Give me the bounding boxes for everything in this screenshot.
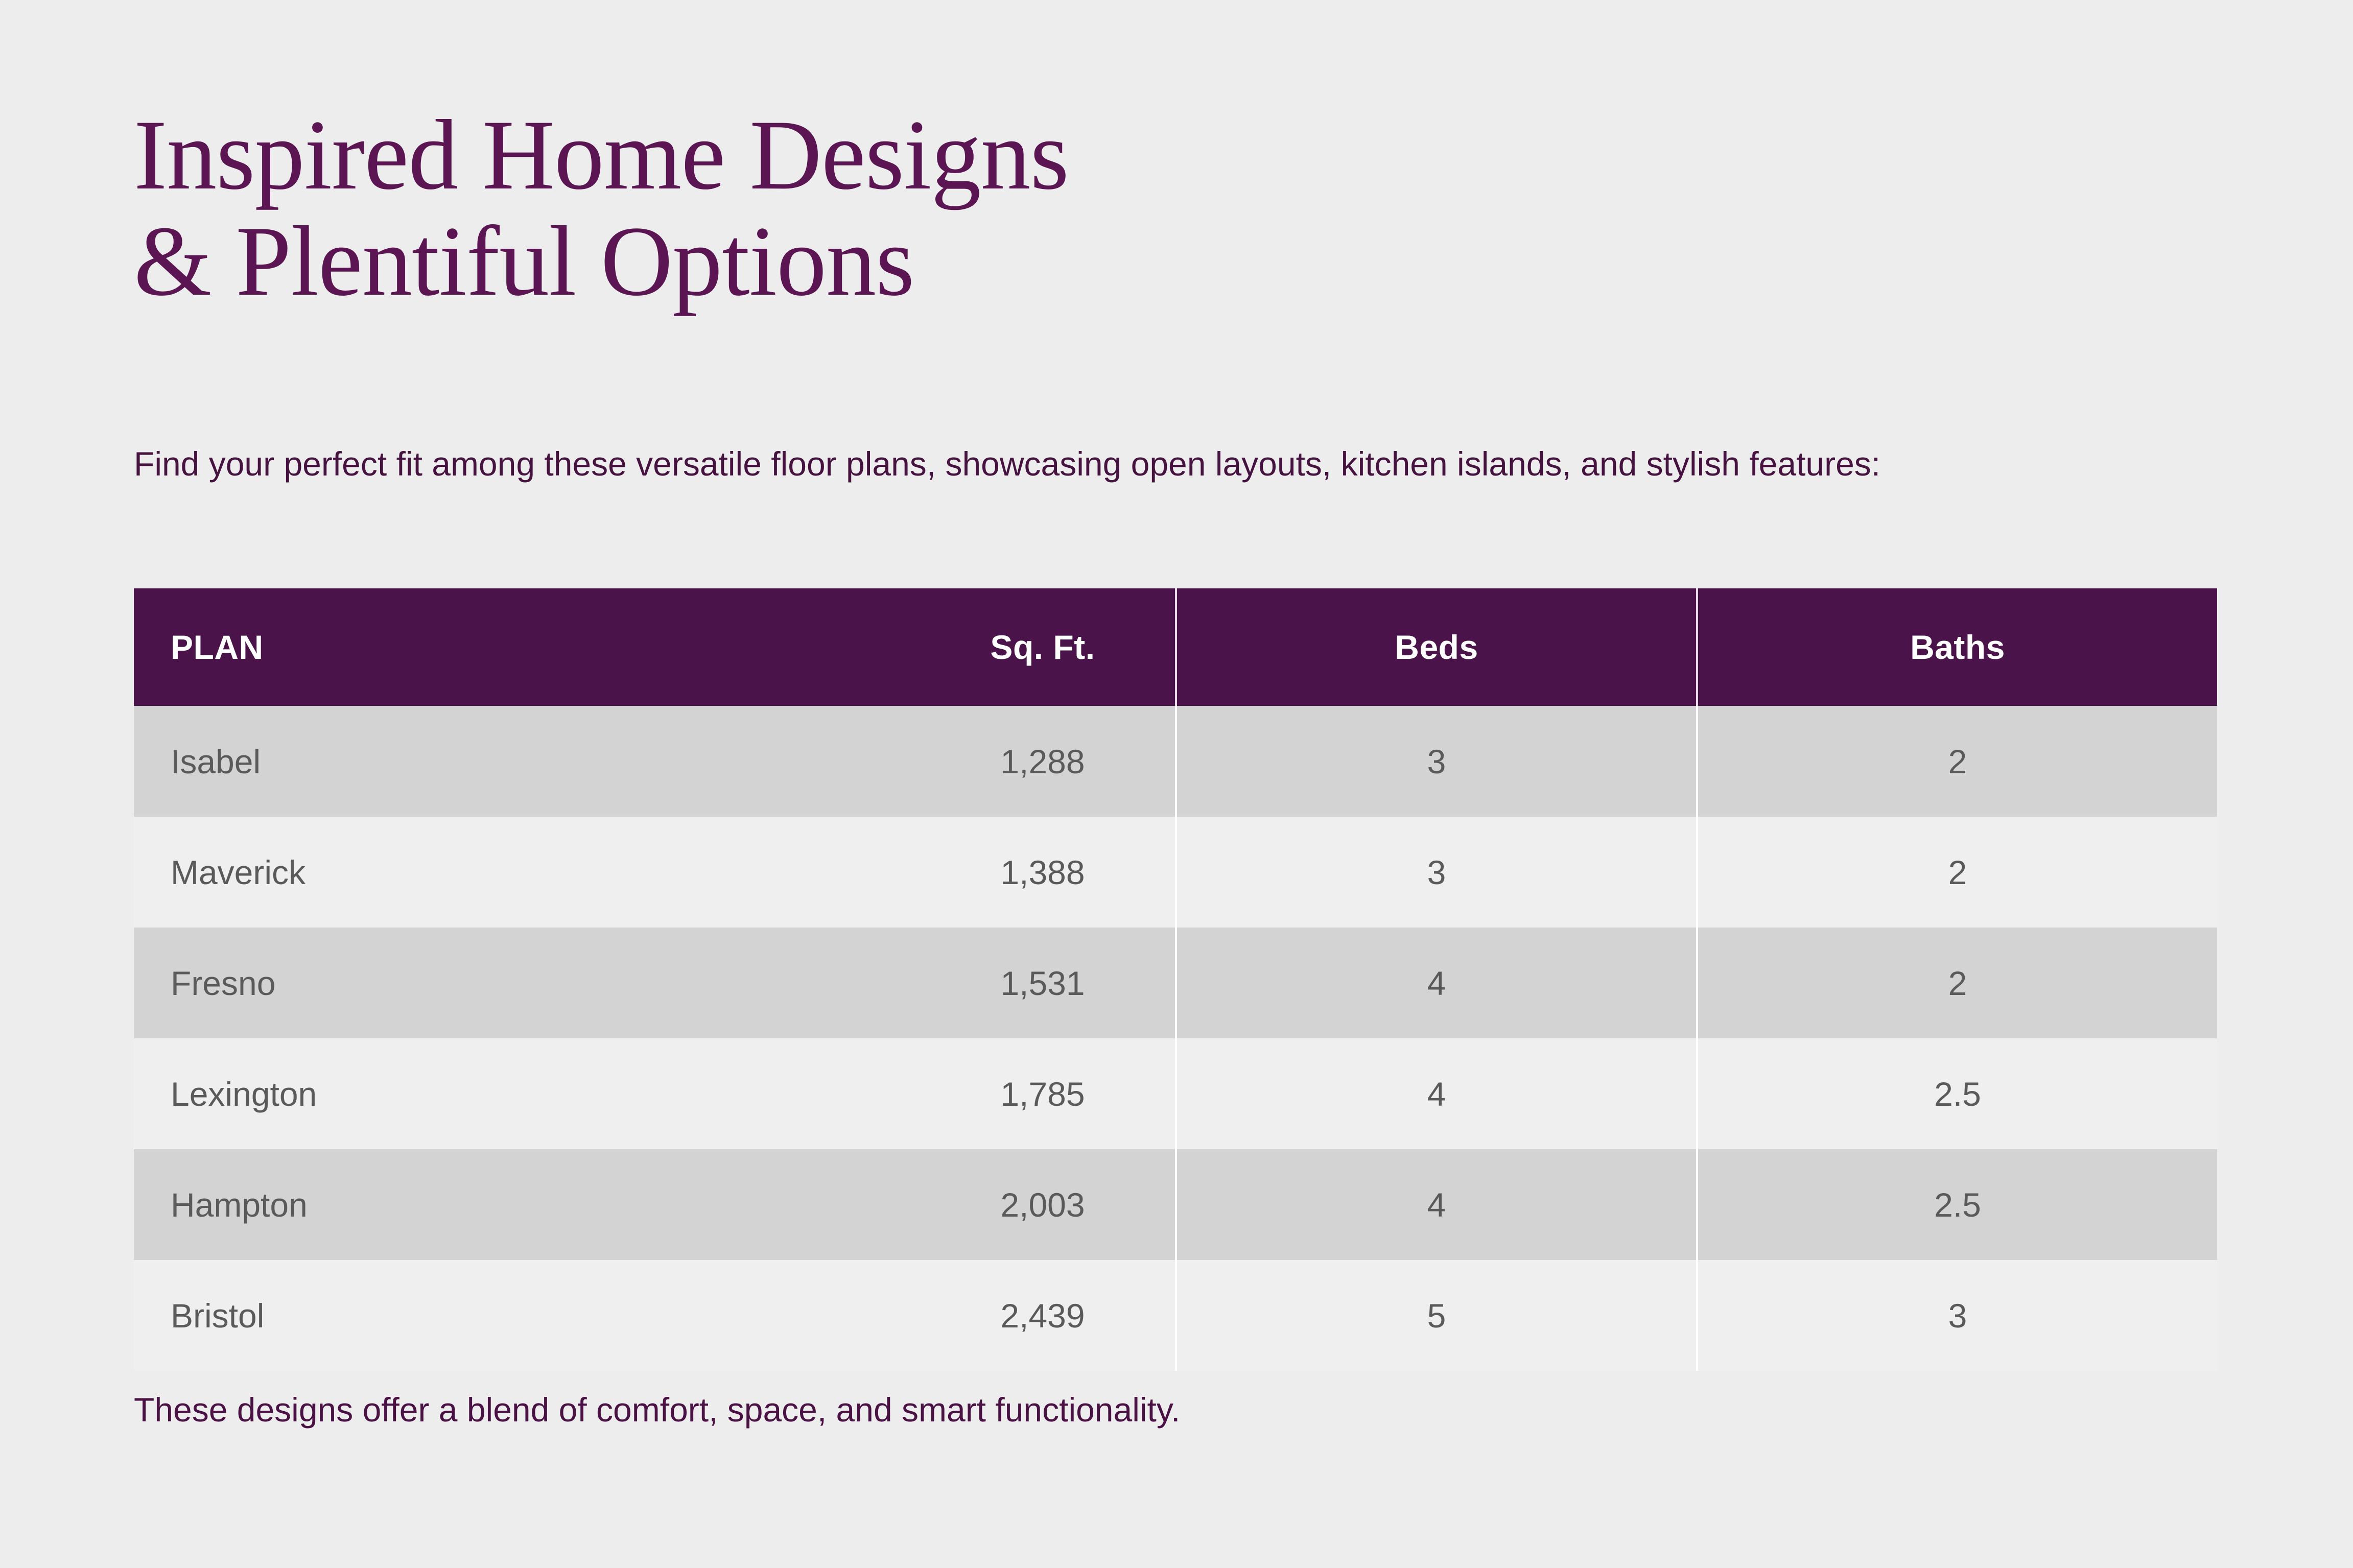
table-row: Fresno 1,531 4 2 bbox=[134, 928, 2217, 1038]
heading-block: Inspired Home Designs & Plentiful Option… bbox=[134, 102, 2228, 315]
cell-sqft: 1,288 bbox=[910, 706, 1176, 817]
cell-sqft: 2,439 bbox=[910, 1260, 1176, 1371]
cell-plan: Isabel bbox=[134, 706, 910, 817]
column-header-baths: Baths bbox=[1697, 588, 2217, 706]
page-subtitle: Find your perfect fit among these versat… bbox=[134, 440, 2239, 488]
cell-beds: 3 bbox=[1176, 817, 1697, 928]
cell-beds: 4 bbox=[1176, 1038, 1697, 1149]
cell-plan: Hampton bbox=[134, 1149, 910, 1260]
table-row: Isabel 1,288 3 2 bbox=[134, 706, 2217, 817]
cell-beds: 4 bbox=[1176, 1149, 1697, 1260]
table-row: Lexington 1,785 4 2.5 bbox=[134, 1038, 2217, 1149]
cell-beds: 5 bbox=[1176, 1260, 1697, 1371]
floor-plans-table: PLAN Sq. Ft. Beds Baths Isabel 1,288 3 2… bbox=[134, 588, 2217, 1371]
table-row: Hampton 2,003 4 2.5 bbox=[134, 1149, 2217, 1260]
column-header-beds: Beds bbox=[1176, 588, 1697, 706]
cell-beds: 4 bbox=[1176, 928, 1697, 1038]
column-header-sqft: Sq. Ft. bbox=[910, 588, 1176, 706]
cell-baths: 2.5 bbox=[1697, 1038, 2217, 1149]
footer-note: These designs offer a blend of comfort, … bbox=[134, 1386, 2228, 1433]
cell-baths: 2 bbox=[1697, 817, 2217, 928]
cell-plan: Maverick bbox=[134, 817, 910, 928]
table-body: Isabel 1,288 3 2 Maverick 1,388 3 2 Fres… bbox=[134, 706, 2217, 1371]
cell-baths: 2 bbox=[1697, 928, 2217, 1038]
column-header-plan: PLAN bbox=[134, 588, 910, 706]
cell-sqft: 1,531 bbox=[910, 928, 1176, 1038]
plans-page: Inspired Home Designs & Plentiful Option… bbox=[0, 0, 2353, 1568]
cell-sqft: 1,785 bbox=[910, 1038, 1176, 1149]
table-header-row: PLAN Sq. Ft. Beds Baths bbox=[134, 588, 2217, 706]
cell-sqft: 1,388 bbox=[910, 817, 1176, 928]
table-row: Bristol 2,439 5 3 bbox=[134, 1260, 2217, 1371]
cell-plan: Fresno bbox=[134, 928, 910, 1038]
cell-plan: Lexington bbox=[134, 1038, 910, 1149]
cell-plan: Bristol bbox=[134, 1260, 910, 1371]
cell-baths: 2.5 bbox=[1697, 1149, 2217, 1260]
cell-beds: 3 bbox=[1176, 706, 1697, 817]
page-title: Inspired Home Designs & Plentiful Option… bbox=[134, 102, 2228, 315]
cell-baths: 3 bbox=[1697, 1260, 2217, 1371]
table-row: Maverick 1,388 3 2 bbox=[134, 817, 2217, 928]
cell-baths: 2 bbox=[1697, 706, 2217, 817]
table-header: PLAN Sq. Ft. Beds Baths bbox=[134, 588, 2217, 706]
cell-sqft: 2,003 bbox=[910, 1149, 1176, 1260]
